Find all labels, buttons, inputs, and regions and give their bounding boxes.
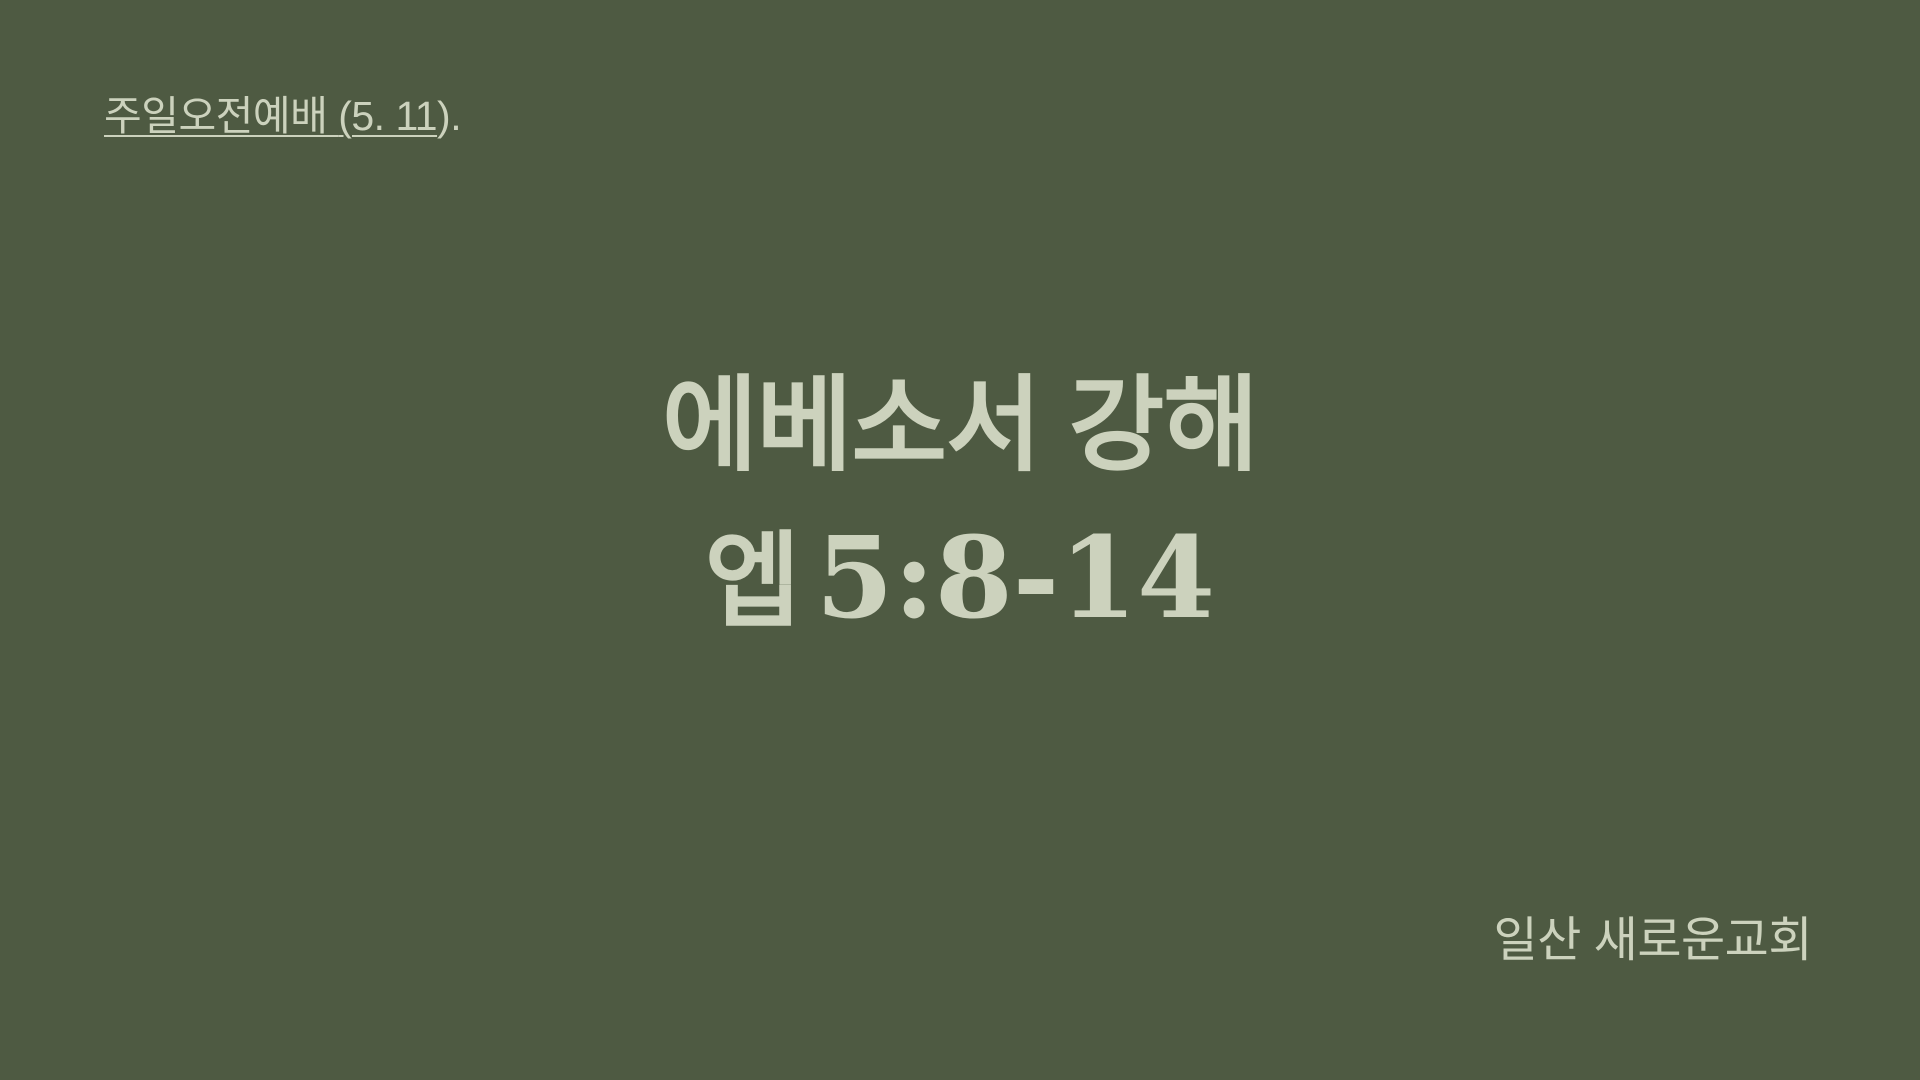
sermon-title-slide: 주일오전예배 (5. 11). 에베소서 강해 엡5:8-14 일산 새로운교회: [0, 0, 1920, 1080]
service-name-text: 주일오전예배: [104, 93, 338, 139]
title-block: 에베소서 강해 엡5:8-14: [0, 368, 1920, 642]
scripture-verse-range: 5:8-14: [816, 513, 1216, 644]
service-header: 주일오전예배 (5. 11).: [104, 92, 461, 140]
service-header-trailing-period: .: [450, 93, 461, 139]
church-name: 일산 새로운교회: [1494, 900, 1812, 970]
scripture-book-label: 엡: [705, 524, 800, 640]
service-date-close-paren: ): [437, 93, 450, 139]
service-date-text: (5. 11: [338, 93, 437, 139]
scripture-reference: 엡5:8-14: [0, 516, 1920, 641]
sermon-series-title: 에베소서 강해: [0, 368, 1920, 484]
